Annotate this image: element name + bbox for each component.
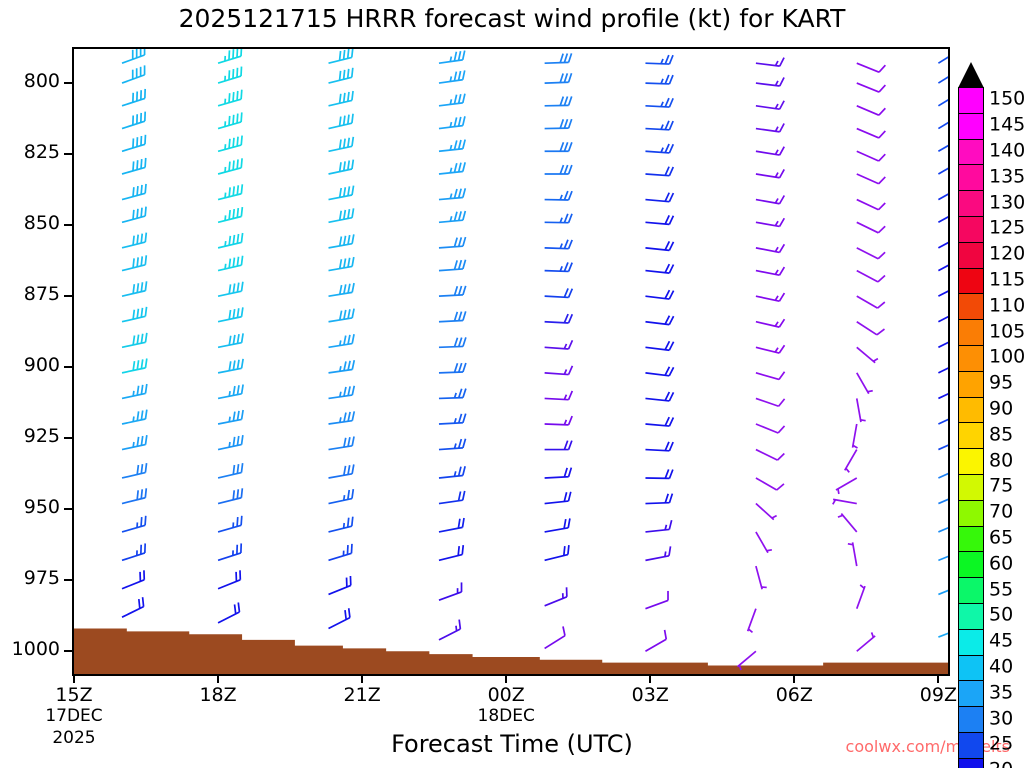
wind-barb [122, 281, 147, 296]
y-axis-tick-label: 850 [0, 212, 60, 234]
wind-barb [545, 142, 572, 151]
wind-barb [218, 136, 242, 152]
wind-barb [218, 307, 243, 321]
wind-barb [218, 207, 242, 222]
wind-barb [938, 459, 948, 478]
wind-barb [329, 464, 354, 478]
colorbar-cell: 65 [958, 526, 984, 553]
colorbar-level-label: 40 [989, 656, 1013, 678]
wind-barb [545, 314, 573, 323]
wind-barb [938, 250, 948, 271]
wind-barb [756, 218, 784, 226]
wind-barb [545, 73, 572, 83]
wind-barb [938, 179, 948, 200]
colorbar-level-label: 135 [989, 165, 1024, 187]
wind-barb [329, 91, 354, 106]
x-axis-tick-mark [793, 674, 795, 683]
wind-barb [845, 450, 857, 473]
wind-barb [122, 89, 145, 106]
wind-barb [329, 234, 354, 248]
wind-barb [756, 293, 785, 301]
wind-barb [645, 55, 673, 64]
wind-barb [938, 576, 948, 594]
wind-barb [645, 341, 673, 350]
wind-barb [938, 276, 948, 296]
colorbar: 1501451401351301251201151101051009590858… [958, 88, 984, 768]
wind-barb [836, 478, 857, 494]
wind-barb [329, 49, 353, 63]
wind-barb [645, 316, 673, 325]
colorbar-cell: 115 [958, 268, 984, 295]
wind-barb [218, 49, 241, 63]
colorbar-cell: 55 [958, 577, 984, 604]
wind-barb [218, 67, 241, 84]
wind-barb [218, 158, 242, 174]
wind-barb [645, 144, 673, 153]
wind-barb [645, 417, 673, 426]
x-axis-tick-label: 21Z [322, 684, 402, 706]
wind-barb [857, 174, 886, 184]
wind-barbs-layer [122, 49, 948, 670]
wind-barb [857, 248, 885, 259]
wind-barb [439, 94, 465, 106]
wind-barb [938, 61, 948, 83]
wind-barb [218, 410, 243, 424]
x-axis-tick-mark [505, 674, 507, 683]
colorbar-cell: 135 [958, 164, 984, 191]
wind-barb [938, 84, 948, 106]
wind-barb [329, 257, 354, 271]
wind-barb [645, 469, 672, 478]
wind-barb [756, 566, 767, 589]
wind-barb [218, 90, 242, 106]
wind-barb [218, 384, 243, 398]
wind-barb [645, 520, 671, 532]
wind-barb [218, 359, 243, 373]
wind-barb [439, 237, 466, 248]
wind-barb [756, 169, 784, 177]
x-axis-tick-label: 03Z [610, 684, 690, 706]
wind-barb [938, 542, 948, 560]
colorbar-level-label: 50 [989, 604, 1013, 626]
wind-barb [938, 201, 948, 222]
wind-barb [645, 494, 672, 504]
wind-barb [439, 337, 466, 347]
wind-barb [545, 545, 569, 560]
x-axis-tick-label: 18Z [178, 684, 258, 706]
plot-canvas [74, 49, 948, 674]
wind-barb [756, 532, 772, 553]
wind-barb [122, 435, 147, 449]
wind-barb [645, 546, 670, 560]
wind-barb [645, 167, 673, 176]
wind-barb [218, 112, 242, 128]
colorbar-level-label: 80 [989, 449, 1013, 471]
colorbar-level-label: 90 [989, 398, 1013, 420]
y-axis-tick-mark [64, 650, 73, 652]
wind-barb [938, 153, 948, 174]
wind-barb [545, 587, 567, 605]
wind-barb [645, 75, 673, 84]
wind-barb [645, 241, 673, 250]
wind-barb [439, 518, 464, 532]
wind-barb [545, 240, 573, 249]
wind-barb [439, 311, 466, 321]
wind-barb [756, 424, 785, 433]
wind-barb [122, 233, 146, 248]
wind-barb [218, 184, 242, 199]
wind-barb [122, 488, 146, 503]
wind-barb [545, 214, 572, 223]
wind-barb [439, 582, 462, 600]
wind-barb [122, 410, 147, 424]
wind-barb [329, 517, 353, 532]
wind-barb [329, 334, 355, 347]
wind-barb [756, 372, 785, 380]
terrain-fill [74, 629, 948, 674]
wind-barb [756, 504, 777, 520]
wind-barb [439, 51, 465, 64]
wind-barb [122, 49, 145, 63]
wind-barb [218, 333, 243, 347]
wind-barb [545, 262, 573, 271]
wind-barb [122, 307, 147, 322]
colorbar-over-arrow-icon [958, 62, 984, 88]
wind-barb [122, 570, 144, 588]
wind-barb [545, 441, 572, 450]
wind-barb [439, 260, 466, 271]
wind-barb [218, 603, 239, 623]
wind-barb [645, 392, 673, 401]
colorbar-cell: 105 [958, 319, 984, 346]
wind-barb [545, 288, 573, 297]
wind-barb [938, 430, 948, 449]
colorbar-cell: 35 [958, 680, 984, 707]
x-axis-date-label: 17DEC [34, 706, 114, 726]
wind-barb [439, 620, 460, 640]
wind-barb [439, 414, 466, 424]
x-axis-tick-mark [73, 674, 75, 683]
terrain-polygon [74, 629, 948, 674]
y-axis-tick-label: 800 [0, 70, 60, 92]
colorbar-level-label: 75 [989, 475, 1013, 497]
wind-barb [857, 63, 886, 72]
wind-barb [122, 597, 144, 617]
wind-barb [122, 516, 146, 532]
colorbar-level-label: 150 [989, 88, 1024, 110]
wind-barb [756, 319, 785, 327]
wind-barb [645, 630, 666, 651]
wind-barb [329, 160, 354, 174]
colorbar-cell: 110 [958, 293, 984, 320]
wind-barb [439, 116, 465, 128]
colorbar-cell: 60 [958, 551, 984, 578]
colorbar-cell: 90 [958, 397, 984, 424]
colorbar-cell: 120 [958, 242, 984, 269]
x-axis-date-label: 18DEC [466, 706, 546, 726]
x-axis-tick-mark [361, 674, 363, 683]
wind-barb [329, 489, 354, 503]
wind-barb [545, 391, 573, 400]
x-axis-tick-label: 15Z [34, 684, 114, 706]
colorbar-level-label: 120 [989, 243, 1024, 265]
colorbar-level-label: 145 [989, 114, 1024, 136]
wind-barb [857, 200, 885, 210]
x-axis-tick-mark [217, 674, 219, 683]
wind-barb [218, 570, 240, 588]
wind-barb [833, 499, 857, 504]
wind-barb [545, 468, 572, 478]
wind-barb [857, 373, 873, 394]
colorbar-cell: 40 [958, 655, 984, 682]
wind-barb [439, 70, 465, 83]
wind-barb [545, 191, 572, 200]
colorbar-cell: 125 [958, 216, 984, 243]
wind-barb [756, 124, 784, 132]
wind-barb [645, 98, 673, 107]
wind-barb [938, 107, 948, 129]
wind-barb [439, 389, 466, 399]
colorbar-cell: 145 [958, 113, 984, 140]
colorbar-level-label: 35 [989, 681, 1013, 703]
wind-barb [545, 165, 572, 174]
wind-barb [122, 65, 145, 83]
wind-barb [439, 140, 465, 152]
colorbar-level-label: 20 [989, 759, 1013, 768]
wind-barb [645, 215, 673, 224]
wind-barb [748, 609, 756, 633]
wind-barb [329, 576, 351, 594]
wind-barb [857, 296, 885, 308]
wind-barb [329, 608, 350, 628]
colorbar-level-label: 140 [989, 140, 1024, 162]
wind-barb [545, 626, 565, 648]
colorbar-cell: 70 [958, 500, 984, 527]
wind-barb [545, 53, 572, 63]
colorbar-cell: 130 [958, 190, 984, 217]
y-axis-tick-mark [64, 579, 73, 581]
y-axis-tick-mark [64, 153, 73, 155]
wind-barb [857, 151, 886, 161]
wind-barb [938, 404, 948, 424]
wind-barb [857, 271, 885, 282]
wind-barb [853, 424, 858, 448]
wind-barb [218, 516, 242, 532]
wind-barb [218, 282, 243, 296]
y-axis-tick-label: 825 [0, 141, 60, 163]
wind-barb [645, 367, 673, 376]
x-axis-tick-mark [649, 674, 651, 683]
wind-barb [439, 188, 465, 199]
colorbar-level-label: 125 [989, 217, 1024, 239]
y-axis-tick-mark [64, 82, 73, 84]
wind-barb [756, 450, 784, 461]
wind-barb [838, 514, 857, 532]
wind-barb [938, 130, 948, 151]
wind-profile-chart: 2025121715 HRRR forecast wind profile (k… [0, 0, 1024, 768]
wind-barb [756, 147, 784, 155]
x-axis-tick-mark [937, 674, 939, 683]
wind-barb [329, 114, 354, 129]
y-axis-tick-mark [64, 437, 73, 439]
wind-barb [545, 492, 571, 504]
wind-barb [938, 485, 948, 504]
wind-barb [938, 619, 948, 637]
wind-barb [756, 478, 784, 490]
wind-barb [122, 158, 146, 174]
wind-barb [857, 222, 885, 233]
watermark: coolwx.com/modelts [846, 737, 1010, 756]
wind-barb [756, 101, 784, 109]
colorbar-cell: 50 [958, 603, 984, 630]
colorbar-cell: 95 [958, 371, 984, 398]
wind-barb [218, 256, 243, 271]
wind-barb [857, 347, 878, 362]
wind-barb [122, 135, 145, 152]
wind-barb [329, 360, 355, 373]
wind-barb [218, 233, 243, 248]
colorbar-level-label: 100 [989, 346, 1024, 368]
wind-barb [122, 255, 146, 270]
wind-barb [122, 333, 147, 347]
wind-barb [645, 121, 673, 130]
wind-barb [329, 411, 355, 424]
wind-barb [848, 542, 857, 566]
colorbar-level-label: 115 [989, 269, 1024, 291]
colorbar-level-label: 95 [989, 372, 1013, 394]
wind-barb [218, 543, 241, 560]
colorbar-cell: 80 [958, 448, 984, 475]
colorbar-level-label: 65 [989, 527, 1013, 549]
plot-area [72, 47, 950, 676]
y-axis-tick-label: 950 [0, 496, 60, 518]
colorbar-cell: 100 [958, 345, 984, 372]
wind-barb [439, 491, 465, 504]
y-axis-tick-label: 1000 [0, 638, 60, 660]
wind-barb [122, 207, 146, 223]
wind-barb [857, 106, 886, 115]
colorbar-cell: 45 [958, 629, 984, 656]
wind-barb [938, 327, 948, 347]
wind-barb [645, 442, 673, 451]
wind-barb [938, 379, 948, 399]
y-axis-tick-mark [64, 224, 73, 226]
colorbar-level-label: 55 [989, 578, 1013, 600]
wind-barb [545, 416, 573, 425]
wind-barb [329, 208, 354, 222]
wind-barb [857, 83, 886, 92]
wind-barb [218, 463, 243, 478]
wind-barb [545, 340, 573, 349]
wind-barb [329, 137, 354, 151]
wind-barb [439, 211, 465, 222]
colorbar-cell: 140 [958, 139, 984, 166]
wind-barb [756, 398, 785, 406]
wind-barb [545, 366, 573, 375]
wind-barb [439, 545, 463, 560]
wind-barb [439, 162, 465, 174]
wind-barb [439, 439, 466, 450]
wind-barb [645, 290, 673, 299]
colorbar-cell: 30 [958, 706, 984, 733]
wind-barb [545, 96, 572, 105]
colorbar-cell: 25 [958, 732, 984, 759]
colorbar-cell: 150 [958, 87, 984, 114]
wind-barb [756, 58, 784, 66]
colorbar-level-label: 25 [989, 733, 1013, 755]
wind-barb [218, 435, 243, 449]
wind-barb [329, 68, 353, 83]
colorbar-cell: 75 [958, 474, 984, 501]
wind-barb [329, 283, 355, 296]
colorbar-cell: 85 [958, 422, 984, 449]
y-axis-tick-mark [64, 295, 73, 297]
wind-barb [329, 309, 355, 322]
wind-barb [329, 544, 352, 561]
wind-barb [439, 286, 466, 296]
wind-barb [857, 129, 886, 138]
wind-barb [122, 112, 145, 129]
wind-barb [545, 518, 570, 532]
colorbar-level-label: 110 [989, 294, 1024, 316]
y-axis-tick-mark [64, 366, 73, 368]
colorbar-cell: 20 [958, 758, 984, 768]
wind-barb [938, 353, 948, 373]
y-axis-tick-label: 875 [0, 283, 60, 305]
wind-barb [756, 345, 785, 353]
wind-barb [122, 543, 145, 560]
wind-barb [756, 267, 784, 275]
wind-barb [439, 466, 465, 478]
wind-barb [122, 184, 146, 200]
wind-barb [857, 322, 885, 335]
wind-barb [122, 384, 147, 398]
page-title: 2025121715 HRRR forecast wind profile (k… [0, 4, 1024, 33]
wind-barb [122, 463, 147, 478]
wind-barb [439, 363, 466, 373]
wind-barb [938, 301, 948, 321]
y-axis-tick-label: 900 [0, 354, 60, 376]
y-axis-tick-label: 975 [0, 567, 60, 589]
colorbar-level-label: 105 [989, 320, 1024, 342]
wind-barb [329, 186, 354, 200]
wind-barb [122, 358, 147, 372]
wind-barb [756, 244, 784, 252]
colorbar-level-label: 45 [989, 630, 1013, 652]
wind-barb [645, 193, 673, 202]
wind-barb [545, 119, 572, 128]
wind-barb [329, 386, 355, 399]
wind-barb [938, 49, 948, 63]
wind-barb [218, 488, 242, 503]
wind-barb [857, 632, 875, 651]
wind-barb [756, 78, 784, 86]
colorbar-level-label: 85 [989, 423, 1013, 445]
wind-barb [329, 436, 355, 449]
x-axis-tick-label: 06Z [754, 684, 834, 706]
wind-barb [938, 513, 948, 532]
x-axis-tick-label: 00Z [466, 684, 546, 706]
colorbar-level-label: 70 [989, 501, 1013, 523]
wind-barb [857, 398, 866, 422]
colorbar-level-label: 60 [989, 552, 1013, 574]
wind-barb [938, 227, 948, 248]
colorbar-level-label: 30 [989, 707, 1013, 729]
y-axis-tick-mark [64, 508, 73, 510]
wind-barb [645, 591, 668, 609]
wind-barb [645, 264, 673, 273]
wind-barb [857, 585, 865, 609]
